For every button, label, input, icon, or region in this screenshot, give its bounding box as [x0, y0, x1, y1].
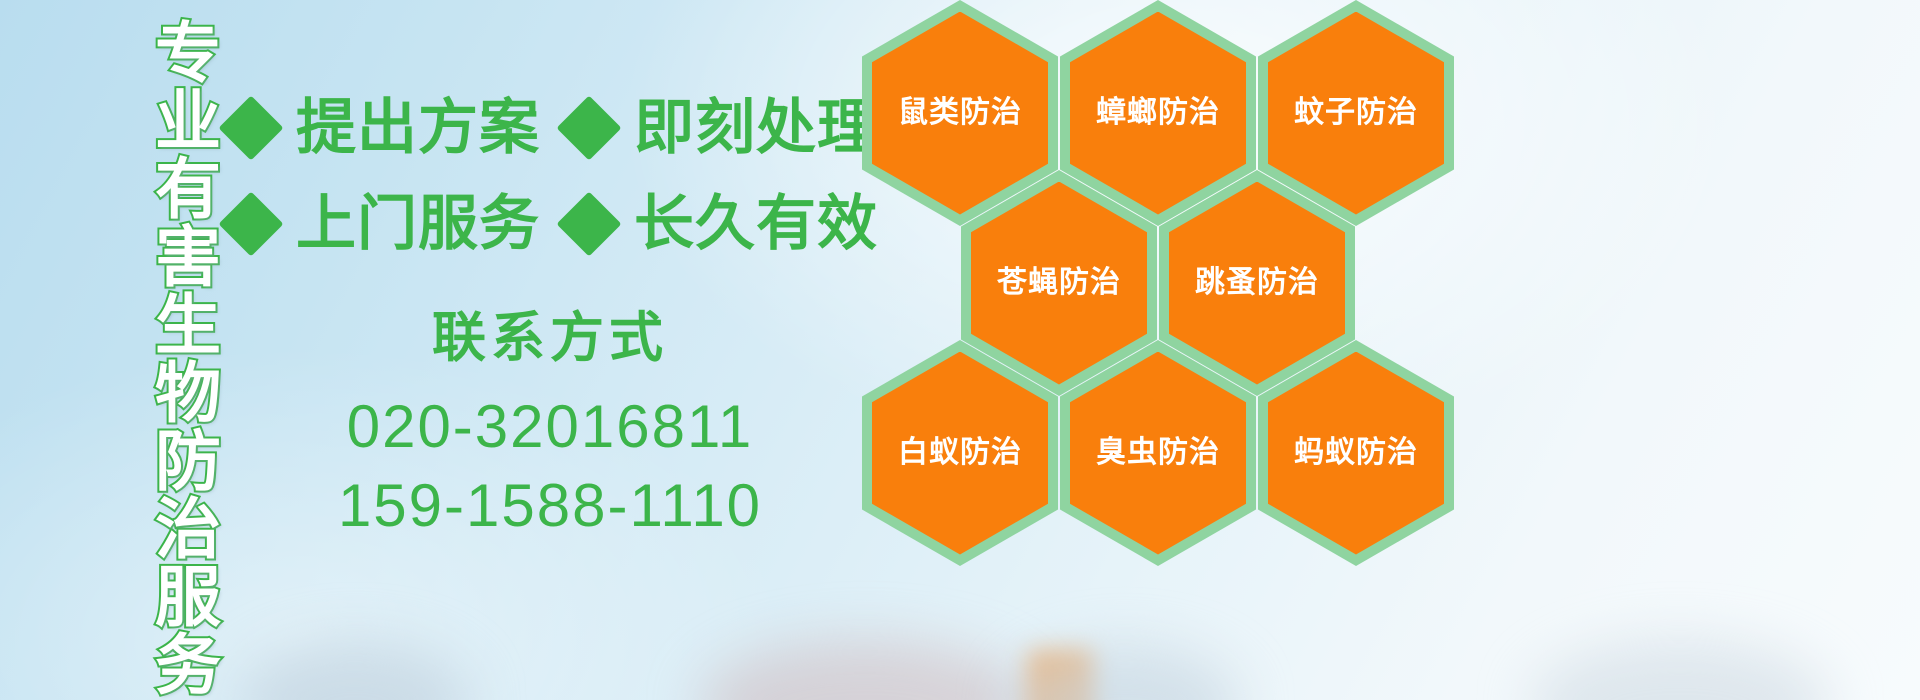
- feature-item: 上门服务: [228, 194, 540, 254]
- contact-phone-landline[interactable]: 020-32016811: [300, 387, 800, 466]
- hex-label: 白蚁防治: [898, 438, 1022, 468]
- feature-item: 长久有效: [566, 194, 878, 254]
- vertical-headline: 专业有害生物防治服务: [112, 18, 216, 698]
- hex-label: 鼠类防治: [898, 98, 1022, 128]
- hex-inner: 苍蝇防治: [971, 182, 1147, 385]
- feature-row: 上门服务 长久有效: [228, 176, 868, 272]
- diamond-icon: [218, 95, 283, 160]
- hex-label: 蟑螂防治: [1096, 98, 1220, 128]
- hex-label: 苍蝇防治: [997, 268, 1121, 298]
- feature-label: 即刻处理: [634, 98, 878, 158]
- hex-inner: 跳蚤防治: [1169, 182, 1345, 385]
- service-hex-grid: 鼠类防治 蟑螂防治 蚊子防治 苍蝇防治 跳蚤防治 白蚁防治: [862, 0, 1462, 550]
- hex-label: 跳蚤防治: [1195, 268, 1319, 298]
- hex-inner: 蟑螂防治: [1070, 12, 1246, 215]
- background-blob-3: [1010, 646, 1240, 700]
- hex-inner: 蚂蚁防治: [1268, 352, 1444, 555]
- diamond-icon: [218, 191, 283, 256]
- hex-label: 臭虫防治: [1096, 438, 1220, 468]
- feature-item: 提出方案: [228, 98, 540, 158]
- contact-phone-mobile[interactable]: 159-1588-1110: [300, 466, 800, 545]
- hex-inner: 白蚁防治: [872, 352, 1048, 555]
- background-blob-4: [1530, 640, 1830, 700]
- contact-title: 联系方式: [300, 305, 800, 373]
- feature-item: 即刻处理: [566, 98, 878, 158]
- hex-inner: 鼠类防治: [872, 12, 1048, 215]
- feature-row: 提出方案 即刻处理: [228, 80, 868, 176]
- feature-list: 提出方案 即刻处理 上门服务 长久有效: [228, 80, 868, 272]
- feature-label: 上门服务: [296, 194, 540, 254]
- background-blob-1: [240, 642, 470, 700]
- background-blob-2: [700, 640, 1030, 700]
- feature-label: 长久有效: [634, 194, 878, 254]
- hex-label: 蚂蚁防治: [1294, 438, 1418, 468]
- hex-label: 蚊子防治: [1294, 98, 1418, 128]
- hex-inner: 蚊子防治: [1268, 12, 1444, 215]
- diamond-icon: [556, 191, 621, 256]
- background-orange-blob: [1028, 650, 1094, 700]
- feature-label: 提出方案: [296, 98, 540, 158]
- contact-block: 联系方式 020-32016811 159-1588-1110: [300, 305, 800, 545]
- pest-control-banner: 专业有害生物防治服务 提出方案 即刻处理 上门服务 长久有效 联: [0, 0, 1920, 700]
- hex-inner: 臭虫防治: [1070, 352, 1246, 555]
- diamond-icon: [556, 95, 621, 160]
